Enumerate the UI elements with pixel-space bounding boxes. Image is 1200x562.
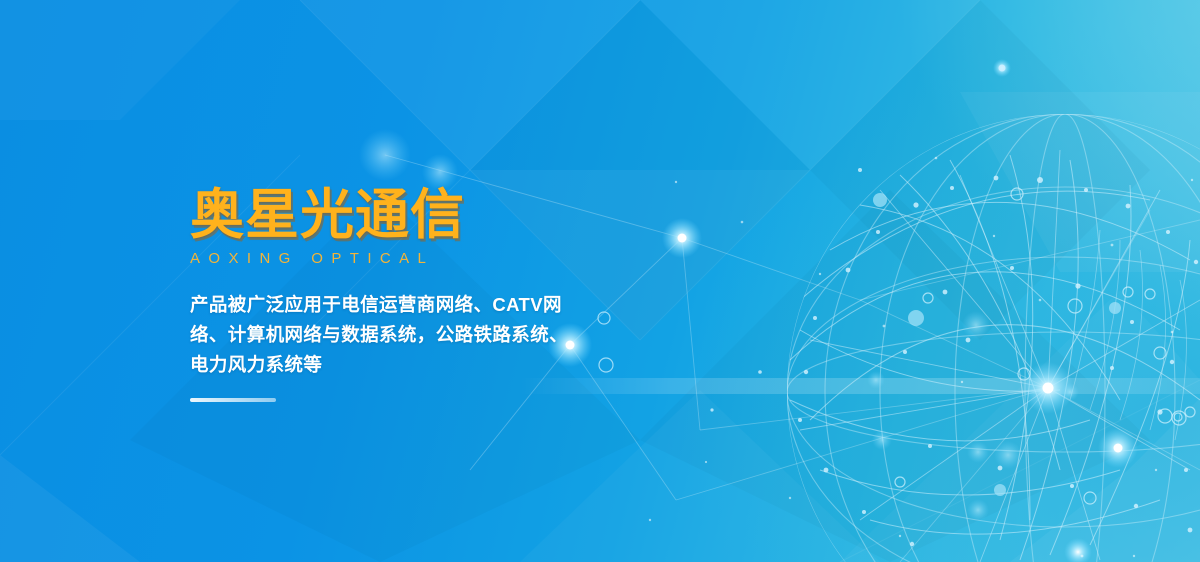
banner-description: 产品被广泛应用于电信运营商网络、CATV网 络、计算机网络与数据系统，公路铁路系… xyxy=(190,290,602,380)
brand-title: 奥星光通信 xyxy=(190,186,660,244)
banner-content: 奥星光通信 AOXING OPTICAL 产品被广泛应用于电信运营商网络、CAT… xyxy=(190,186,660,402)
accent-divider xyxy=(190,398,276,402)
hero-banner: 奥星光通信 AOXING OPTICAL 产品被广泛应用于电信运营商网络、CAT… xyxy=(0,0,1200,562)
brand-subtitle: AOXING OPTICAL xyxy=(190,250,660,268)
description-line-1: 产品被广泛应用于电信运营商网络、CATV网 xyxy=(190,290,602,320)
description-line-3: 电力风力系统等 xyxy=(190,350,602,380)
description-line-2: 络、计算机网络与数据系统，公路铁路系统、 xyxy=(190,320,602,350)
